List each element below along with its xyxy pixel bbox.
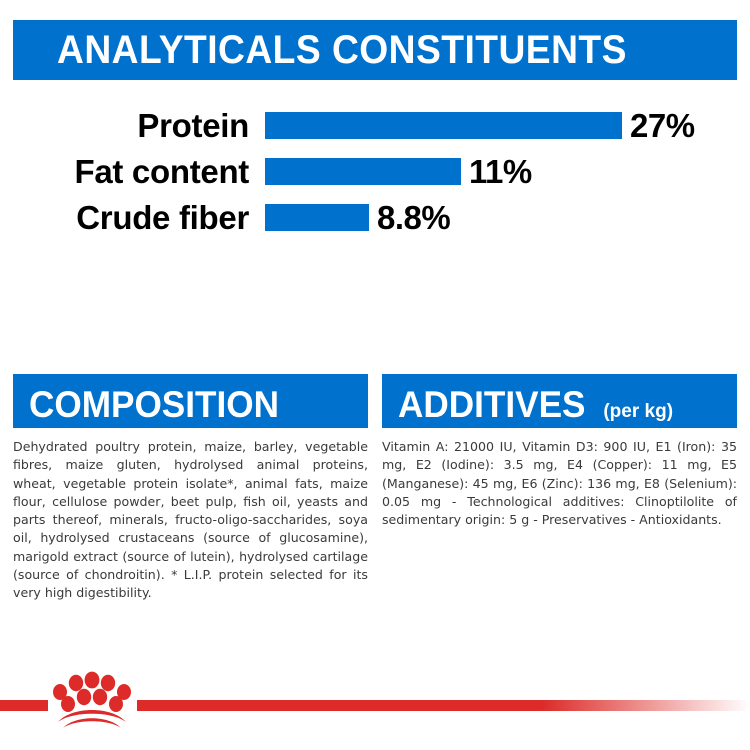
analyticals-banner-title: ANALYTICALS CONSTITUENTS xyxy=(57,30,627,70)
chart-row-crude-fiber: Crude fiber 8.8% xyxy=(13,194,737,240)
footer-brand-bar xyxy=(0,662,750,728)
chart-bar-protein xyxy=(265,112,622,139)
composition-text: Dehydrated poultry protein, maize, barle… xyxy=(13,438,368,603)
chart-row-protein: Protein 27% xyxy=(13,102,737,148)
chart-value-crude-fiber: 8.8% xyxy=(377,201,450,234)
footer-rule-right xyxy=(137,700,750,711)
chart-label-fat-content: Fat content xyxy=(13,155,265,188)
royal-canin-crown-icon xyxy=(52,670,132,728)
chart-value-protein: 27% xyxy=(630,109,695,142)
additives-banner-note: (per kg) xyxy=(603,402,673,421)
additives-banner-title: ADDITIVES xyxy=(398,386,585,423)
additives-text: Vitamin A: 21000 IU, Vitamin D3: 900 IU,… xyxy=(382,438,737,529)
chart-value-fat-content: 11% xyxy=(469,155,532,188)
composition-banner: COMPOSITION xyxy=(13,374,368,428)
additives-banner: ADDITIVES (per kg) xyxy=(382,374,737,428)
chart-bar-crude-fiber xyxy=(265,204,369,231)
chart-label-protein: Protein xyxy=(13,109,265,142)
composition-panel: COMPOSITION Dehydrated poultry protein, … xyxy=(13,374,368,615)
chart-bar-wrap-crude-fiber: 8.8% xyxy=(265,201,737,234)
chart-bar-wrap-fat-content: 11% xyxy=(265,155,737,188)
footer-rule-left xyxy=(0,700,48,711)
composition-banner-title: COMPOSITION xyxy=(29,386,279,423)
info-panels: COMPOSITION Dehydrated poultry protein, … xyxy=(13,374,737,615)
analyticals-panel: ANALYTICALS CONSTITUENTS Protein 27% Fat… xyxy=(13,20,737,340)
chart-bar-wrap-protein: 27% xyxy=(265,109,737,142)
chart-row-fat-content: Fat content 11% xyxy=(13,148,737,194)
chart-bar-fat-content xyxy=(265,158,461,185)
analyticals-banner: ANALYTICALS CONSTITUENTS xyxy=(13,20,737,80)
analyticals-bar-chart: Protein 27% Fat content 11% Crude fiber … xyxy=(13,102,737,240)
additives-panel: ADDITIVES (per kg) Vitamin A: 21000 IU, … xyxy=(382,374,737,615)
chart-label-crude-fiber: Crude fiber xyxy=(13,201,265,234)
